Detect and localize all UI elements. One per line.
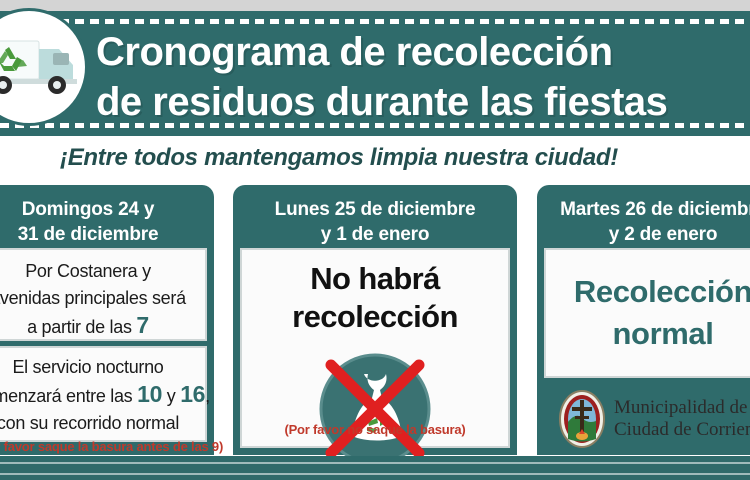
nocturno-conjunction: y [162,386,180,406]
info-panel-no-recoleccion: No habrá recolección [240,248,510,448]
costanera-line1: Por Costanera y [0,258,201,285]
schedule-columns: Domingos 24 y 31 de diciembre Por Costan… [0,185,750,455]
footer-line-top [0,462,750,464]
info-panel-recoleccion-normal: Recolección normal [544,248,750,378]
costanera-hour: 7 [136,312,149,338]
card-heading-line2: 31 de diciembre [0,222,208,247]
nocturno-hour-start: 10 [137,381,162,407]
card-heading-martes: Martes 26 de diciembre y 2 de enero [537,185,750,257]
card-heading-line2: y 2 de enero [543,222,750,247]
costanera-line3: a partir de las 7 [0,312,201,341]
costanera-line2: avenidas principales será [0,285,201,312]
info-panel-nocturno: El servicio nocturno comenzará entre las… [0,346,207,442]
footer-line-bottom [0,473,750,475]
municipality-logo-row: Municipalidad de la Ciudad de Corrientes [559,390,750,448]
header-titles: Cronograma de recolección de residuos du… [96,27,750,127]
no-recoleccion-line2: recolección [248,298,502,336]
no-recoleccion-warning-note: (Por favor no saque la basura) [242,422,508,437]
info-panel-costanera: Por Costanera y avenidas principales ser… [0,248,207,341]
nocturno-comma: , [205,386,210,406]
poster-canvas: Cronograma de recolección de residuos du… [0,0,750,480]
subtitle: ¡Entre todos mantengamos limpia nuestra … [60,143,750,173]
page-title-line1: Cronograma de recolección [96,27,750,77]
schedule-card-lunes: Lunes 25 de diciembre y 1 de enero No ha… [233,185,517,455]
schedule-card-martes: Martes 26 de diciembre y 2 de enero Reco… [537,185,750,455]
nocturno-line2-text: comenzará entre las [0,386,137,406]
nocturno-line2: comenzará entre las 10 y 16, [0,381,201,410]
recoleccion-normal-line2: normal [574,313,750,355]
header-band: Cronograma de recolección de residuos du… [0,11,750,136]
nocturno-line3: con su recorrido normal [0,410,201,437]
schedule-card-domingos: Domingos 24 y 31 de diciembre Por Costan… [0,185,214,455]
page-title-line2: de residuos durante las fiestas [96,77,750,127]
nocturno-hour-end: 16 [180,381,205,407]
card-heading-line1: Lunes 25 de diciembre [239,197,511,222]
nocturno-warning-note: (Por favor saque la basura antes de las … [0,439,201,455]
municipality-name-line2: Ciudad de Corrientes [614,419,750,441]
costanera-line3-text: a partir de las [27,317,136,337]
card-heading-line2: y 1 de enero [239,222,511,247]
no-garbage-bag-crossed-icon [318,352,432,466]
card-body-domingos: Por Costanera y avenidas principales ser… [0,248,207,448]
nocturno-line1: El servicio nocturno [0,354,201,381]
recoleccion-normal-line1: Recolección [574,271,750,313]
card-body-martes: Recolección normal [544,248,750,378]
corrientes-coat-of-arms-icon [559,390,605,448]
recoleccion-normal-text: Recolección normal [574,271,750,355]
card-heading-line1: Martes 26 de diciembre [543,197,750,222]
card-heading-line1: Domingos 24 y [0,197,208,222]
municipality-logo-text: Municipalidad de la Ciudad de Corrientes [614,397,750,441]
top-gray-strip [0,0,750,11]
header-dashed-line-top [0,19,750,24]
card-heading-domingos: Domingos 24 y 31 de diciembre [0,185,214,257]
footer-band [0,456,750,480]
municipality-name-line1: Municipalidad de la [614,397,750,419]
card-heading-lunes: Lunes 25 de diciembre y 1 de enero [233,185,517,257]
card-body-lunes: No habrá recolección [240,248,510,448]
no-recoleccion-line1: No habrá [248,260,502,298]
